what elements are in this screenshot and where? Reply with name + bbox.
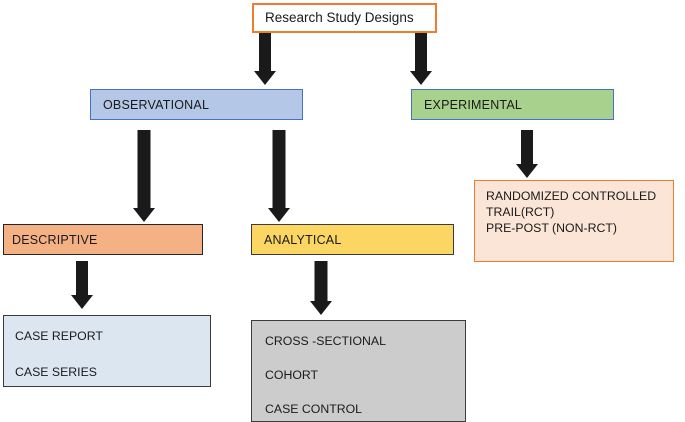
node-line-trail-rct: TRAIL(RCT): [486, 206, 673, 220]
node-line-case-series: CASE SERIES: [15, 366, 210, 380]
node-label: OBSERVATIONAL: [103, 98, 302, 112]
node-label: DESCRIPTIVE: [12, 233, 202, 247]
node-label: EXPERIMENTAL: [424, 98, 613, 112]
arrow-root-to-experimental: [408, 33, 434, 85]
arrow-observational-to-descriptive: [130, 130, 158, 222]
node-line-case-report: CASE REPORT: [15, 330, 210, 344]
node-line-cohort: COHORT: [265, 369, 465, 383]
arrow-experimental-to-types: [514, 130, 540, 178]
node-research-study-designs: Research Study Designs: [252, 3, 437, 33]
node-experimental: EXPERIMENTAL: [411, 89, 614, 120]
arrow-analytical-to-types: [307, 261, 335, 315]
node-observational: OBSERVATIONAL: [90, 89, 303, 120]
node-label: ANALYTICAL: [264, 233, 453, 247]
node-analytical-types: CROSS -SECTIONAL COHORT CASE CONTROL: [251, 320, 466, 422]
node-analytical: ANALYTICAL: [251, 224, 454, 255]
node-experimental-types: RANDOMIZED CONTROLLED TRAIL(RCT) PRE-POS…: [474, 180, 674, 262]
arrow-root-to-observational: [252, 33, 278, 85]
node-line-case-control: CASE CONTROL: [265, 403, 465, 417]
node-descriptive: DESCRIPTIVE: [3, 224, 203, 255]
flowchart-canvas: Research Study Designs OBSERVATIONAL EXP…: [0, 0, 685, 422]
node-label: Research Study Designs: [265, 10, 435, 25]
node-line-randomized-controlled: RANDOMIZED CONTROLLED: [486, 190, 673, 204]
node-line-cross-sectional: CROSS -SECTIONAL: [265, 335, 465, 349]
arrow-observational-to-analytical: [265, 130, 293, 222]
node-descriptive-types: CASE REPORT CASE SERIES: [3, 315, 211, 387]
arrow-descriptive-to-types: [69, 261, 95, 309]
node-line-pre-post-non-rct: PRE-POST (NON-RCT): [486, 222, 673, 236]
